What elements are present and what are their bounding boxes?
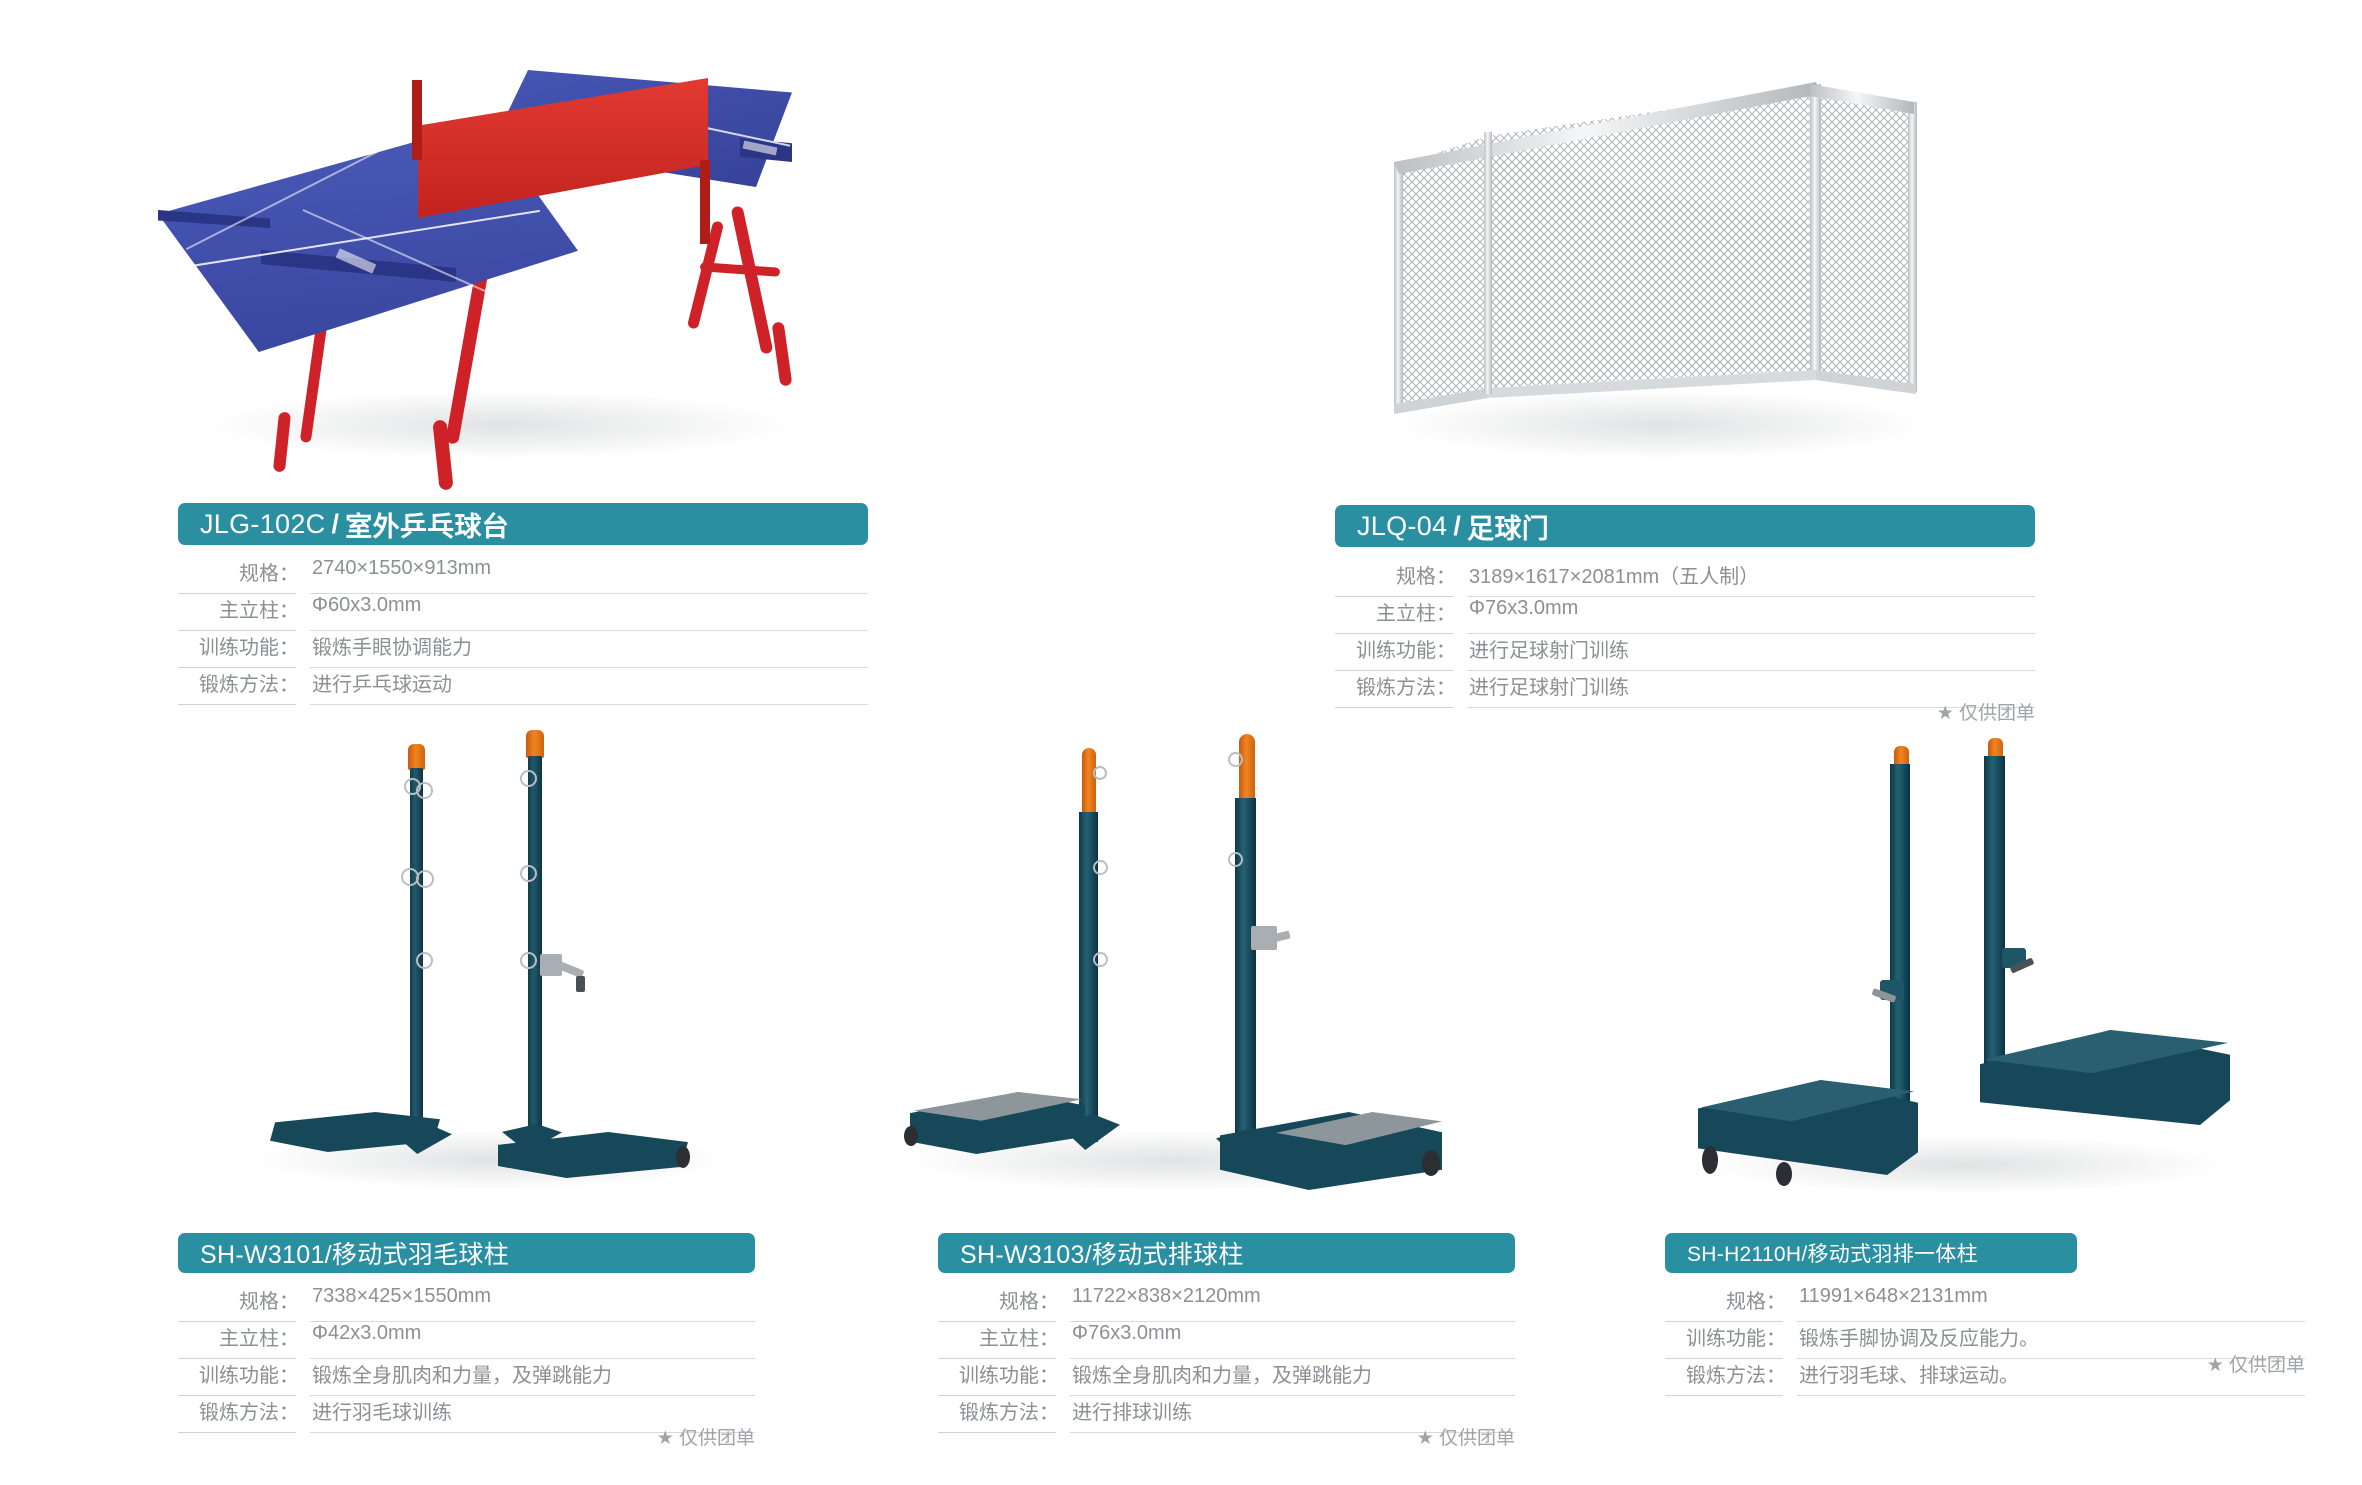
- spec-value: 进行乒乓球运动: [308, 668, 868, 697]
- outdoor-table-tennis-table-photo: [140, 60, 920, 490]
- spec-table-sh-h2110h: 规格： 11991×648×2131mm 训练功能： 锻炼手脚协调及反应能力。 …: [1665, 1285, 2305, 1396]
- table-foot: [772, 321, 793, 386]
- net-ring: [1228, 752, 1243, 767]
- spec-row: 规格： 11722×838×2120mm: [938, 1285, 1515, 1321]
- title-separator: /: [325, 509, 345, 540]
- table-brace: [700, 262, 780, 277]
- table-leg: [731, 205, 774, 354]
- group-order-footnote: ★ 仅供团单: [1905, 1350, 2305, 1377]
- crank-grip: [576, 976, 585, 992]
- product-title: SH-W3103/移动式排球柱: [960, 1235, 1244, 1271]
- catalog-page: JLG-102C / 室外乒乓球台 规格： 2740×1550×913mm 主立…: [0, 0, 2362, 1485]
- spec-table-sh-w3103: 规格： 11722×838×2120mm 主立柱： Φ76x3.0mm 训练功能…: [938, 1285, 1515, 1433]
- base-caster: [1422, 1150, 1440, 1176]
- spec-value: 7338×425×1550mm: [308, 1285, 755, 1308]
- mobile-volleyball-post-photo: [890, 730, 1460, 1230]
- spec-label: 锻炼方法：: [938, 1396, 1068, 1425]
- product-title-bar-sh-w3101: SH-W3101/移动式羽毛球柱: [178, 1233, 755, 1273]
- post-extension-top: [1082, 748, 1096, 816]
- spec-row: 锻炼方法： 进行乒乓球运动: [178, 668, 868, 704]
- group-order-footnote: ★ 仅供团单: [1115, 1423, 1515, 1450]
- product-title: SH-H2110H/移动式羽排一体柱: [1687, 1238, 1978, 1268]
- spec-row: 训练功能： 进行足球射门训练: [1335, 634, 2035, 670]
- product-code: JLQ-04: [1357, 511, 1447, 542]
- net-ring: [1093, 766, 1107, 780]
- spec-divider: [1665, 1395, 2305, 1396]
- mobile-badminton-post-photo: [240, 720, 750, 1230]
- spec-row: 规格： 3189×1617×2081mm（五人制）: [1335, 560, 2035, 596]
- group-order-footnote: ★ 仅供团单: [355, 1423, 755, 1450]
- spec-row: 主立柱： Φ60x3.0mm: [178, 594, 868, 630]
- spec-label: 训练功能：: [178, 1359, 308, 1388]
- product-code: JLG-102C: [200, 509, 325, 540]
- spec-label: 锻炼方法：: [1335, 671, 1465, 700]
- spec-label: 主立柱：: [178, 594, 308, 623]
- spec-label: 主立柱：: [938, 1322, 1068, 1351]
- soccer-goal-photo: [1380, 70, 1940, 480]
- spec-value: 3189×1617×2081mm（五人制）: [1465, 560, 2035, 589]
- spec-label: 规格：: [938, 1285, 1068, 1314]
- net-ring: [1093, 952, 1108, 967]
- spec-value: 进行足球射门训练: [1465, 671, 2035, 700]
- spec-value: 2740×1550×913mm: [308, 557, 868, 580]
- product-title-bar-jlq-04: JLQ-04 / 足球门: [1335, 505, 2035, 547]
- product-title-bar-sh-w3103: SH-W3103/移动式排球柱: [938, 1233, 1515, 1273]
- spec-value: Φ76x3.0mm: [1465, 597, 2035, 620]
- spec-value: 进行排球训练: [1068, 1396, 1515, 1425]
- product-card-jlq-04: JLQ-04 / 足球门 规格： 3189×1617×2081mm（五人制） 主…: [1180, 0, 2180, 740]
- product-title-bar-jlg-102c: JLG-102C / 室外乒乓球台: [178, 503, 868, 545]
- net-post: [700, 160, 710, 244]
- base-caster: [676, 1146, 690, 1168]
- spec-row: 主立柱： Φ76x3.0mm: [938, 1322, 1515, 1358]
- product-title-bar-sh-h2110h: SH-H2110H/移动式羽排一体柱: [1665, 1233, 2077, 1273]
- spec-value: 锻炼手脚协调及反应能力。: [1795, 1322, 2305, 1351]
- spec-value: Φ42x3.0mm: [308, 1322, 755, 1345]
- spec-row: 规格： 2740×1550×913mm: [178, 557, 868, 593]
- net-ring: [416, 782, 433, 799]
- spec-row: 主立柱： Φ42x3.0mm: [178, 1322, 755, 1358]
- product-name: 室外乒乓球台: [345, 505, 509, 544]
- spec-label: 训练功能：: [1665, 1322, 1795, 1351]
- product-card-sh-w3103: SH-W3103/移动式排球柱 规格： 11722×838×2120mm 主立柱…: [760, 700, 1640, 1485]
- product-title: SH-W3101/移动式羽毛球柱: [200, 1235, 509, 1271]
- spec-value: 11991×648×2131mm: [1795, 1285, 2305, 1308]
- spec-label: 训练功能：: [1335, 634, 1465, 663]
- base-caster: [1776, 1162, 1792, 1186]
- spec-value: 进行足球射门训练: [1465, 634, 2035, 663]
- post-cap: [526, 730, 544, 758]
- base-caster: [904, 1126, 918, 1146]
- spec-value: 锻炼手眼协调能力: [308, 631, 868, 660]
- combo-post: [1984, 756, 2005, 1100]
- net-ring: [1093, 860, 1108, 875]
- spec-label: 规格：: [1335, 560, 1465, 589]
- spec-label: 主立柱：: [178, 1322, 308, 1351]
- spec-label: 训练功能：: [938, 1359, 1068, 1388]
- spec-row: 规格： 11991×648×2131mm: [1665, 1285, 2305, 1321]
- product-card-sh-w3101: SH-W3101/移动式羽毛球柱 规格： 7338×425×1550mm 主立柱…: [0, 700, 880, 1485]
- net-ring: [520, 770, 537, 787]
- spec-value: Φ60x3.0mm: [308, 594, 868, 617]
- net-ring: [416, 952, 433, 969]
- product-card-jlg-102c: JLG-102C / 室外乒乓球台 规格： 2740×1550×913mm 主立…: [0, 0, 900, 720]
- spec-value: 锻炼全身肌肉和力量，及弹跳能力: [308, 1359, 755, 1388]
- title-separator: /: [1447, 511, 1467, 542]
- spec-table-sh-w3101: 规格： 7338×425×1550mm 主立柱： Φ42x3.0mm 训练功能：…: [178, 1285, 755, 1433]
- net-ring: [1228, 852, 1243, 867]
- spec-value: 锻炼全身肌肉和力量，及弹跳能力: [1068, 1359, 1515, 1388]
- spec-label: 规格：: [178, 1285, 308, 1314]
- spec-label: 主立柱：: [1335, 597, 1465, 626]
- net-ring: [520, 865, 537, 882]
- net-ring: [520, 952, 537, 969]
- product-card-sh-h2110h: SH-H2110H/移动式羽排一体柱 规格： 11991×648×2131mm …: [1600, 700, 2362, 1485]
- spec-row: 规格： 7338×425×1550mm: [178, 1285, 755, 1321]
- product-name: 足球门: [1467, 507, 1549, 546]
- spec-row: 主立柱： Φ76x3.0mm: [1335, 597, 2035, 633]
- spec-value: 进行羽毛球训练: [308, 1396, 755, 1425]
- spec-label: 锻炼方法：: [178, 668, 308, 697]
- spec-label: 规格：: [178, 557, 308, 586]
- post-cap: [408, 744, 425, 770]
- net-post: [412, 80, 422, 160]
- spec-label: 锻炼方法：: [178, 1396, 308, 1425]
- spec-value: 11722×838×2120mm: [1068, 1285, 1515, 1308]
- spec-value: Φ76x3.0mm: [1068, 1322, 1515, 1345]
- spec-table-jlq-04: 规格： 3189×1617×2081mm（五人制） 主立柱： Φ76x3.0mm…: [1335, 560, 2035, 708]
- post-extension-top: [1239, 734, 1255, 804]
- net-ring: [416, 870, 434, 888]
- mobile-badminton-volleyball-combo-post-photo: [1680, 730, 2260, 1230]
- spec-label: 规格：: [1665, 1285, 1795, 1314]
- base-caster: [1702, 1146, 1718, 1174]
- spec-row: 训练功能： 锻炼全身肌肉和力量，及弹跳能力: [938, 1359, 1515, 1395]
- spec-row: 训练功能： 锻炼手眼协调能力: [178, 631, 868, 667]
- spec-table-jlg-102c: 规格： 2740×1550×913mm 主立柱： Φ60x3.0mm 训练功能：…: [178, 557, 868, 705]
- spec-label: 锻炼方法：: [1665, 1359, 1795, 1388]
- spec-row: 训练功能： 锻炼全身肌肉和力量，及弹跳能力: [178, 1359, 755, 1395]
- spec-label: 训练功能：: [178, 631, 308, 660]
